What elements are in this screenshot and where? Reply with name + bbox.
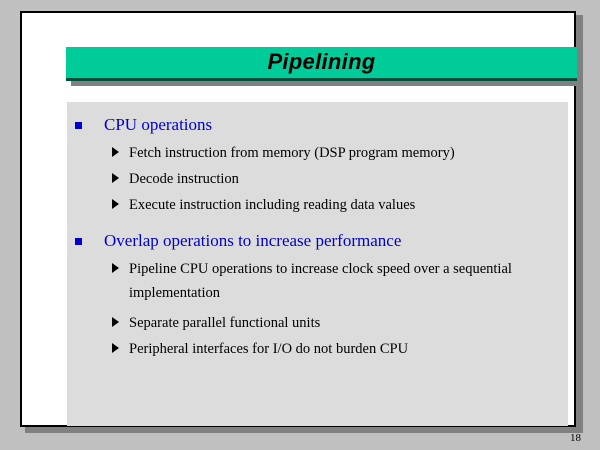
bullet-level2-separate-parallel-units: Separate parallel functional units <box>67 311 568 335</box>
triangle-bullet-icon <box>112 173 119 183</box>
triangle-bullet-icon <box>112 199 119 209</box>
square-bullet-icon <box>75 122 82 129</box>
triangle-bullet-icon <box>112 147 119 157</box>
section-spacer <box>67 219 568 228</box>
bullet-level2-decode-instruction: Decode instruction <box>67 167 568 191</box>
bullet-label: Peripheral interfaces for I/O do not bur… <box>129 341 408 357</box>
bullet-level2-execute-instruction: Execute instruction including reading da… <box>67 193 568 217</box>
square-bullet-icon <box>75 238 82 245</box>
bullet-label: CPU operations <box>104 115 212 134</box>
slide-title: Pipelining <box>267 51 375 73</box>
bullet-list: CPU operations Fetch instruction from me… <box>67 112 568 361</box>
bullet-label: Overlap operations to increase performan… <box>104 231 401 250</box>
slide-title-bar: Pipelining <box>66 47 577 81</box>
triangle-bullet-icon <box>112 343 119 353</box>
bullet-level1-overlap-operations: Overlap operations to increase performan… <box>67 228 568 254</box>
slide-frame: Pipelining CPU operations Fetch instruct… <box>20 11 576 427</box>
triangle-bullet-icon <box>112 317 119 327</box>
slide-content-panel: CPU operations Fetch instruction from me… <box>67 102 568 426</box>
bullet-level2-fetch-instruction: Fetch instruction from memory (DSP progr… <box>67 141 568 165</box>
bullet-label: Separate parallel functional units <box>129 315 320 331</box>
page-number: 18 <box>570 432 581 444</box>
bullet-label: Pipeline CPU operations to increase cloc… <box>129 261 512 301</box>
bullet-level2-pipeline-cpu-operations: Pipeline CPU operations to increase cloc… <box>67 257 568 305</box>
bullet-level1-cpu-operations: CPU operations <box>67 112 568 138</box>
bullet-level2-peripheral-interfaces: Peripheral interfaces for I/O do not bur… <box>67 337 568 361</box>
bullet-label: Decode instruction <box>129 171 239 187</box>
bullet-label: Fetch instruction from memory (DSP progr… <box>129 145 455 161</box>
bullet-label: Execute instruction including reading da… <box>129 197 415 213</box>
triangle-bullet-icon <box>112 263 119 273</box>
